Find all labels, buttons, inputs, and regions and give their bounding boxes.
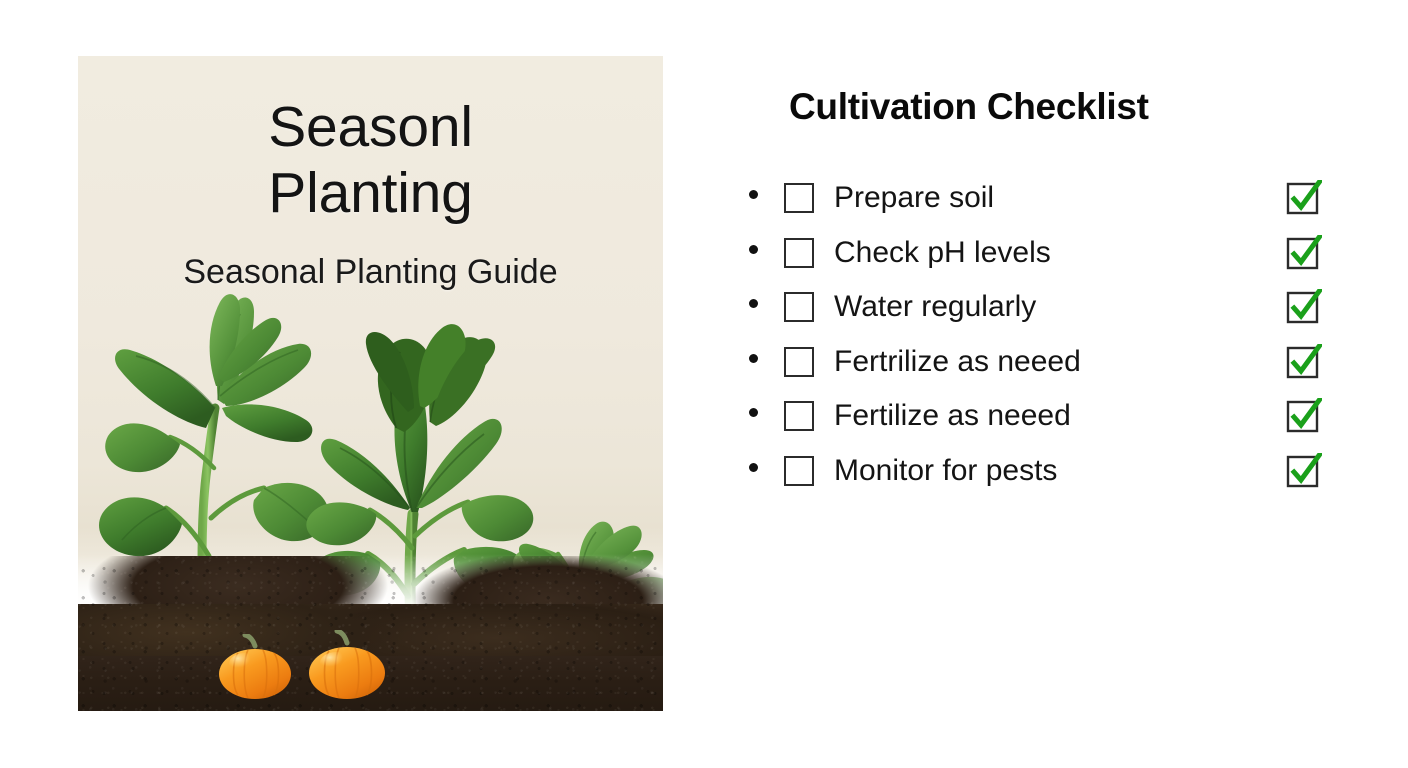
checklist-title: Cultivation Checklist (789, 86, 1149, 128)
check-icon (1286, 453, 1322, 489)
bullet-icon (749, 354, 758, 363)
bullet-icon (749, 463, 758, 472)
checkbox-input[interactable] (784, 292, 814, 322)
pumpkin-icon (218, 634, 292, 700)
list-item[interactable]: Prepare soil (740, 172, 1360, 227)
cultivation-checklist-panel: Cultivation Checklist Prepare soil Check… (740, 56, 1360, 656)
checkbox-input[interactable] (784, 456, 814, 486)
list-item-label: Monitor for pests (834, 451, 1057, 491)
list-item[interactable]: Monitor for pests (740, 445, 1360, 500)
list-item[interactable]: Fertilize as neeed (740, 390, 1360, 445)
check-icon (1286, 398, 1322, 434)
bullet-icon (749, 408, 758, 417)
check-icon (1286, 180, 1322, 216)
bullet-icon (749, 190, 758, 199)
checkbox-input[interactable] (784, 401, 814, 431)
list-item-label: Fertrilize as neeed (834, 342, 1081, 382)
list-item[interactable]: Fertrilize as neeed (740, 336, 1360, 391)
checkbox-input[interactable] (784, 238, 814, 268)
check-icon (1286, 235, 1322, 271)
check-icon (1286, 289, 1322, 325)
seasonal-planting-poster: Seasonl Planting Seasonal Planting Guide (78, 56, 663, 711)
checklist-item-list: Prepare soil Check pH levels (740, 172, 1360, 499)
checkbox-input[interactable] (784, 183, 814, 213)
check-icon (1286, 344, 1322, 380)
list-item-label: Fertilize as neeed (834, 396, 1071, 436)
bullet-icon (749, 245, 758, 254)
list-item[interactable]: Check pH levels (740, 227, 1360, 282)
list-item[interactable]: Water regularly (740, 281, 1360, 336)
pumpkin-icon (308, 630, 386, 700)
checkbox-input[interactable] (784, 347, 814, 377)
list-item-label: Prepare soil (834, 178, 994, 218)
bullet-icon (749, 299, 758, 308)
poster-subtitle: Seasonal Planting Guide (78, 251, 663, 293)
list-item-label: Check pH levels (834, 233, 1051, 273)
list-item-label: Water regularly (834, 287, 1036, 327)
poster-title: Seasonl Planting (78, 94, 663, 226)
